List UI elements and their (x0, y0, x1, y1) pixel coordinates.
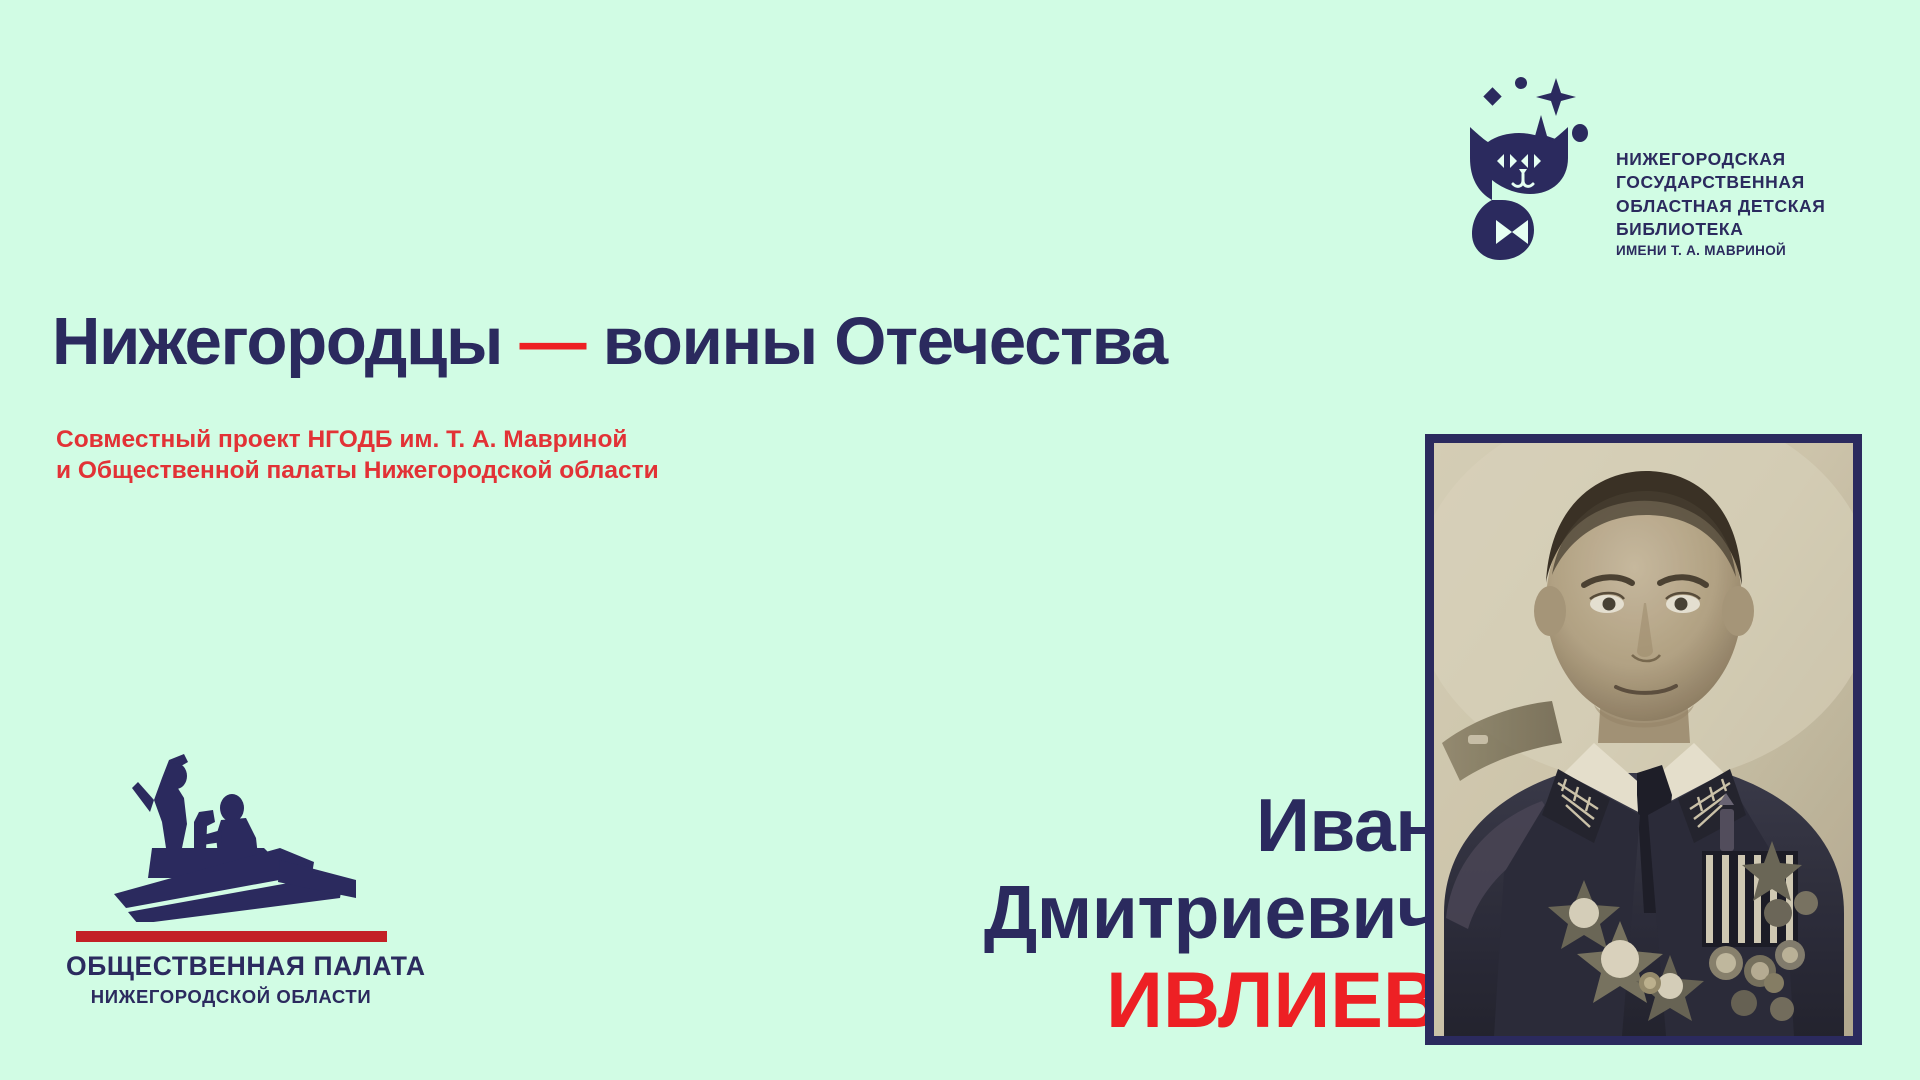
portrait-frame (1425, 434, 1862, 1045)
page-title: Нижегородцы — воины Отечества (52, 303, 1167, 380)
project-subtitle: Совместный проект НГОДБ им. Т. А. Маврин… (56, 424, 659, 486)
public-chamber-logo: ОБЩЕСТВЕННАЯ ПАЛАТА НИЖЕГОРОДСКОЙ ОБЛАСТ… (66, 752, 396, 1008)
library-logo-text: НИЖЕГОРОДСКАЯ ГОСУДАРСТВЕННАЯ ОБЛАСТНАЯ … (1616, 148, 1825, 260)
title-part-1: Нижегородцы (52, 304, 502, 379)
library-line-3: ОБЛАСТНАЯ ДЕТСКАЯ (1616, 195, 1825, 218)
title-dash: — (520, 304, 586, 379)
person-first-name: Иван (984, 788, 1440, 863)
chamber-subtitle: НИЖЕГОРОДСКОЙ ОБЛАСТИ (66, 986, 396, 1008)
monument-silhouette-icon (66, 752, 396, 922)
library-logo: НИЖЕГОРОДСКАЯ ГОСУДАРСТВЕННАЯ ОБЛАСТНАЯ … (1468, 70, 1825, 260)
library-sub-line: ИМЕНИ Т. А. МАВРИНОЙ (1616, 242, 1825, 260)
poster-canvas: НИЖЕГОРОДСКАЯ ГОСУДАРСТВЕННАЯ ОБЛАСТНАЯ … (0, 0, 1920, 1080)
person-last-name: ИВЛИЕВ (984, 960, 1440, 1039)
chamber-red-rule (76, 931, 387, 942)
library-line-2: ГОСУДАРСТВЕННАЯ (1616, 171, 1825, 194)
library-line-1: НИЖЕГОРОДСКАЯ (1616, 148, 1825, 171)
portrait-photo-soviet-general (1434, 443, 1853, 1036)
chamber-title: ОБЩЕСТВЕННАЯ ПАЛАТА (66, 951, 396, 982)
subtitle-line-1: Совместный проект НГОДБ им. Т. А. Маврин… (56, 424, 659, 455)
library-line-4: БИБЛИОТЕКА (1616, 218, 1825, 241)
person-name-block: Иван Дмитриевич ИВЛИЕВ (984, 788, 1440, 1039)
person-patronymic: Дмитриевич (984, 875, 1440, 950)
cat-library-logo-icon (1468, 70, 1600, 260)
subtitle-line-2: и Общественной палаты Нижегородской обла… (56, 455, 659, 486)
title-part-2: воины Отечества (603, 304, 1167, 379)
